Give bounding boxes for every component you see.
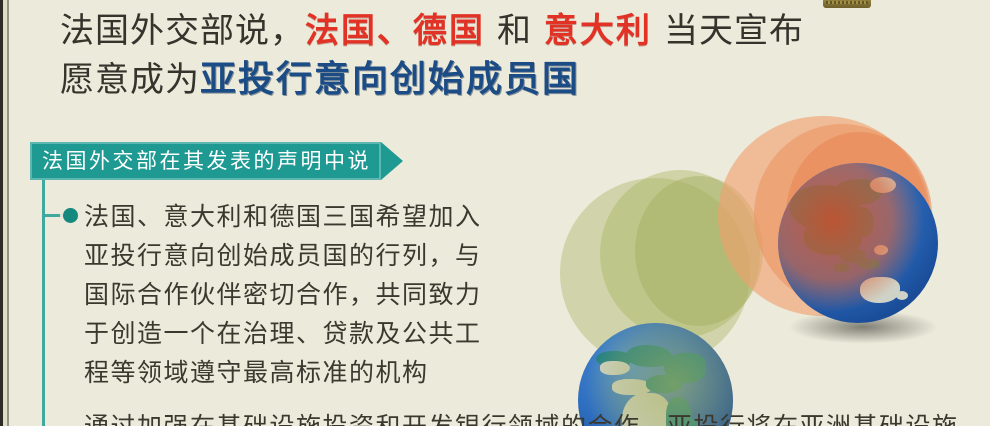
section-banner-body: 法国外交部在其发表的声明中说 <box>30 142 381 180</box>
section-banner-chevron-icon <box>381 142 403 180</box>
bullet-paragraph-2-clipped: 通过加强在基础设施投资和开发银行领域的合作，亚投行将在亚洲基础设施 <box>84 408 984 426</box>
globes-illustration <box>540 118 990 426</box>
headline-highlight-aiib: 亚投行意向创始成员国 <box>200 58 580 99</box>
paragraph-line: 亚投行意向创始成员国的行列，与 <box>84 237 554 276</box>
paragraph-line: 程等领域遵守最高标准的机构 <box>84 354 554 393</box>
headline-highlight-countries-1: 法国、德国 <box>305 12 485 50</box>
section-banner-label: 法国外交部在其发表的声明中说 <box>42 151 371 172</box>
headline-line-1: 法国外交部说，法国、德国和意大利当天宣布 <box>60 8 960 54</box>
section-banner: 法国外交部在其发表的声明中说 <box>30 142 403 180</box>
infographic-canvas: 法国外交部说，法国、德国和意大利当天宣布 愿意成为亚投行意向创始成员国 法国外交… <box>0 0 990 426</box>
page-title: 法国外交部说，法国、德国和意大利当天宣布 愿意成为亚投行意向创始成员国 <box>60 8 960 103</box>
headline-text-plain-3: 当天宣布 <box>664 12 804 50</box>
headline-line-2: 愿意成为亚投行意向创始成员国 <box>60 56 960 103</box>
headline-highlight-countries-2: 意大利 <box>544 12 652 50</box>
paragraph-line: 国际合作伙伴密切合作，共同致力 <box>84 276 554 315</box>
headline-text-plain-1: 法国外交部说， <box>60 12 305 50</box>
headline-text-plain-4: 愿意成为 <box>60 61 200 99</box>
gold-coin-chip-icon <box>823 0 871 8</box>
bullet-paragraph-1: 法国、意大利和德国三国希望加入 亚投行意向创始成员国的行列，与 国际合作伙伴密切… <box>84 198 554 393</box>
paragraph-line: 于创造一个在治理、贷款及公共工 <box>84 315 554 354</box>
paragraph-line: 法国、意大利和德国三国希望加入 <box>84 198 554 237</box>
frame-border-inner <box>7 0 9 426</box>
headline-text-plain-2: 和 <box>497 12 532 50</box>
globe-asia-pacific <box>778 163 938 323</box>
bullet-dot-icon <box>63 208 78 223</box>
